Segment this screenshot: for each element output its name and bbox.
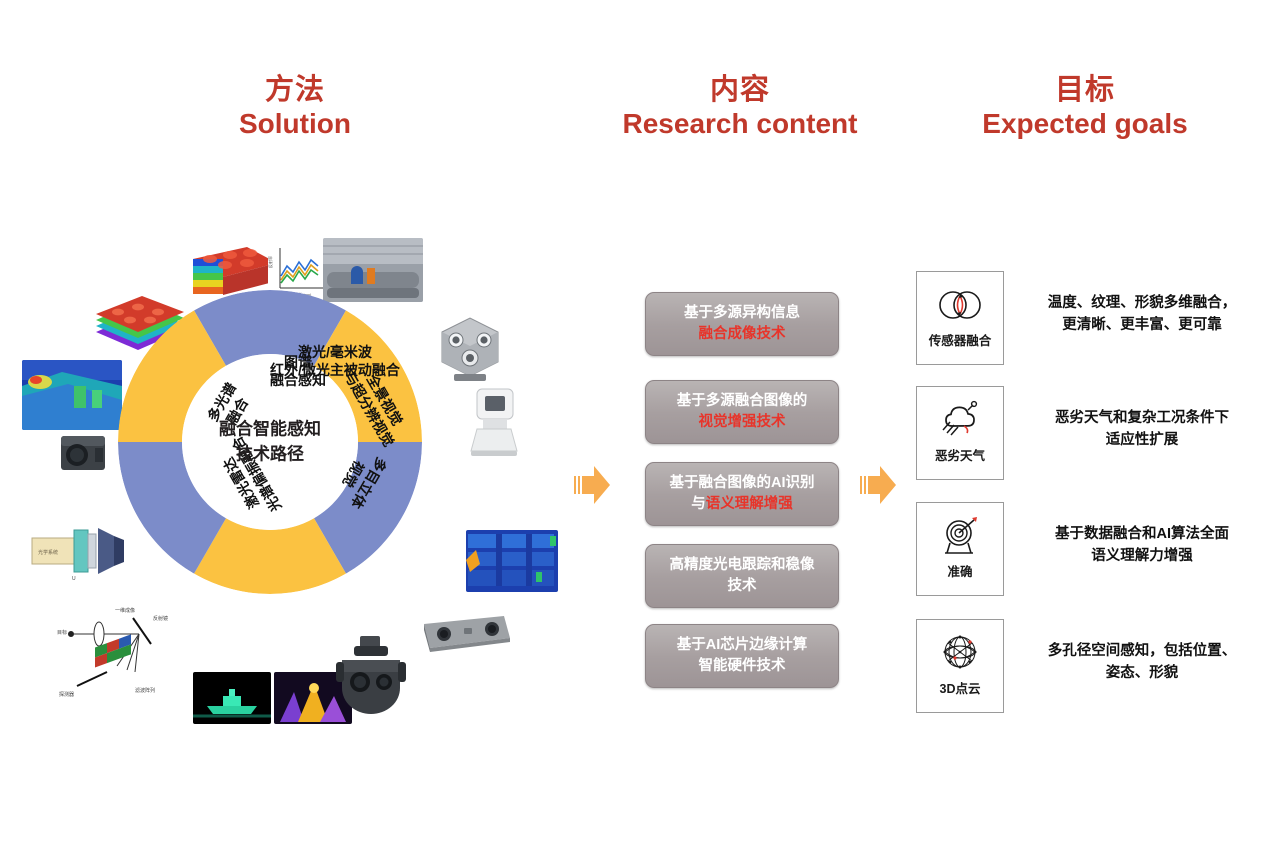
research-box-3[interactable]: 基于融合图像的AI识别 与语义理解增强 xyxy=(645,462,839,526)
goal-text-line2: 姿态、形貌 xyxy=(1022,663,1262,685)
column-heading-research-content: 内容 Research content xyxy=(610,74,870,140)
goal-card-accuracy[interactable]: 准确 xyxy=(916,502,1004,596)
research-box-line2: 智能硬件技术 xyxy=(699,658,786,674)
goal-text-line1: 多孔径空间感知，包括位置、 xyxy=(1022,641,1262,663)
wheel-center-text: 融合智能感知 技术路径 xyxy=(219,417,321,466)
goal-text-point-cloud: 多孔径空间感知，包括位置、 姿态、形貌 xyxy=(1022,641,1262,685)
heading-cn: 方法 xyxy=(170,74,420,106)
goal-card-caption: 恶劣天气 xyxy=(935,445,985,464)
svg-text:光学系统: 光学系统 xyxy=(38,549,58,556)
arrow-content-to-goals xyxy=(856,462,900,508)
bad-weather-icon xyxy=(934,398,986,442)
research-box-line1: 高精度光电跟踪和稳像 xyxy=(670,557,815,573)
technology-roadmap-wheel: 图谱融合感知 全景视觉与超分辨视觉 多目立体视觉 激光/毫米波红外/微光主被动融… xyxy=(118,290,422,594)
heading-en: Solution xyxy=(170,108,420,139)
svg-text:一维成像: 一维成像 xyxy=(115,607,135,614)
research-box-text: 基于多源异构信息 融合成像技术 xyxy=(678,303,806,345)
svg-text:反射率: 反射率 xyxy=(268,256,273,268)
thumbnail-gimbal-eo-pod xyxy=(330,632,412,714)
center-line-1: 融合智能感知 xyxy=(219,417,321,442)
goal-text-sensor-fusion: 温度、纹理、形貌多维融合， 更清晰、更丰富、更可靠 xyxy=(1022,293,1262,337)
research-box-line2: 视觉增强技术 xyxy=(699,414,786,430)
thumbnail-depth-map-blocks xyxy=(466,530,558,592)
goal-text-line1: 基于数据融合和AI算法全面 xyxy=(1022,524,1262,546)
research-box-line2: 语义理解增强 xyxy=(706,496,793,512)
research-box-line1: 基于AI芯片边缘计算 xyxy=(677,637,808,653)
research-box-text: 基于融合图像的AI识别 与语义理解增强 xyxy=(664,473,821,515)
goal-text-line1: 温度、纹理、形貌多维融合， xyxy=(1022,293,1262,315)
center-line-2: 技术路径 xyxy=(219,442,321,467)
research-box-text: 基于多源融合图像的 视觉增强技术 xyxy=(671,391,814,433)
goal-card-caption: 传感器融合 xyxy=(929,330,992,349)
research-box-line2: 融合成像技术 xyxy=(699,326,786,342)
column-heading-solution: 方法 Solution xyxy=(170,74,420,140)
point-cloud-icon xyxy=(934,631,986,675)
research-box-4[interactable]: 高精度光电跟踪和稳像 技术 xyxy=(645,544,839,608)
thumbnail-scanner-device xyxy=(463,385,525,457)
column-heading-expected-goals: 目标 Expected goals xyxy=(955,74,1215,140)
goal-text-line2: 适应性扩展 xyxy=(1022,430,1262,452)
research-box-line1: 基于融合图像的AI识别 xyxy=(670,475,815,491)
arrow-solution-to-content xyxy=(570,462,614,508)
goal-text-line2: 语义理解力增强 xyxy=(1022,546,1262,568)
goal-card-caption: 3D点云 xyxy=(940,678,981,697)
heading-en: Research content xyxy=(610,108,870,139)
research-box-text: 高精度光电跟踪和稳像 技术 xyxy=(664,555,821,597)
thumbnail-industrial-camera xyxy=(55,428,113,476)
thumbnail-stereo-camera-bar xyxy=(418,608,514,658)
research-box-2[interactable]: 基于多源融合图像的 视觉增强技术 xyxy=(645,380,839,444)
goal-card-sensor-fusion[interactable]: 传感器融合 xyxy=(916,271,1004,365)
svg-text:目标: 目标 xyxy=(57,629,67,636)
goal-text-line2: 更清晰、更丰富、更可靠 xyxy=(1022,315,1262,337)
research-box-line1: 基于多源异构信息 xyxy=(684,305,800,321)
thumbnail-ir-ship-image xyxy=(193,672,271,724)
thumbnail-thermal-scene xyxy=(22,360,122,430)
diagram-canvas: 方法 Solution 内容 Research content 目标 Expec… xyxy=(0,0,1268,866)
svg-text:反射镜: 反射镜 xyxy=(153,615,168,622)
research-box-5[interactable]: 基于AI芯片边缘计算 智能硬件技术 xyxy=(645,624,839,688)
sensor-fusion-icon xyxy=(934,283,986,327)
goal-text-line1: 恶劣天气和复杂工况条件下 xyxy=(1022,408,1262,430)
research-box-text: 基于AI芯片边缘计算 智能硬件技术 xyxy=(671,635,814,677)
goal-card-point-cloud[interactable]: 3D点云 xyxy=(916,619,1004,713)
target-accuracy-icon xyxy=(934,514,986,558)
heading-cn: 目标 xyxy=(955,74,1215,106)
goal-text-accuracy: 基于数据融合和AI算法全面 语义理解力增强 xyxy=(1022,524,1262,568)
heading-en: Expected goals xyxy=(955,108,1215,139)
research-box-line1: 基于多源融合图像的 xyxy=(677,393,808,409)
thumbnail-optical-assembly: 光学系统 U xyxy=(28,520,132,582)
thumbnail-panoramic-multicamera-rig xyxy=(432,310,508,386)
research-box-line2: 技术 xyxy=(728,578,757,594)
research-box-1[interactable]: 基于多源异构信息 融合成像技术 xyxy=(645,292,839,356)
research-box-line2-prefix: 与 xyxy=(691,496,706,512)
svg-text:滤波阵列: 滤波阵列 xyxy=(135,687,155,694)
svg-text:探测器: 探测器 xyxy=(59,691,74,698)
goal-text-bad-weather: 恶劣天气和复杂工况条件下 适应性扩展 xyxy=(1022,408,1262,452)
svg-text:U: U xyxy=(72,576,76,582)
goal-card-bad-weather[interactable]: 恶劣天气 xyxy=(916,386,1004,480)
goal-card-caption: 准确 xyxy=(947,561,972,580)
heading-cn: 内容 xyxy=(610,74,870,106)
thumbnail-optical-path-diagram: 一维成像 反射镜 目标 探测器 滤波阵列 xyxy=(55,600,185,700)
